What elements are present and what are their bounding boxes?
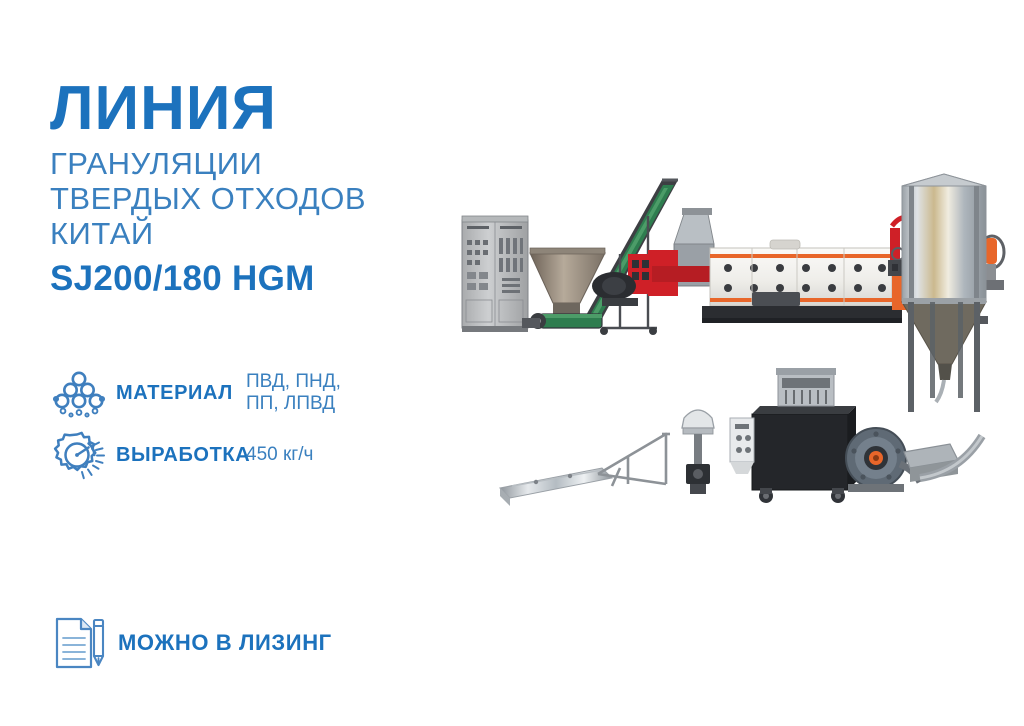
spec-value-output: 450 кг/ч xyxy=(246,444,313,466)
subtitle-line-1: ГРАНУЛЯЦИИ xyxy=(50,146,470,181)
equipment-photo-graphic xyxy=(452,168,1012,548)
spec-value-material: ПВД, ПНД, ПП, ЛПВД xyxy=(246,371,341,415)
storage-silo xyxy=(896,174,986,412)
granules-icon xyxy=(50,364,108,422)
spec-label-output: ВЫРАБОТКА xyxy=(108,444,246,467)
transfer-duct xyxy=(904,436,982,482)
water-cooling-trough xyxy=(500,468,612,506)
spec-list: МАТЕРИАЛ ПВД, ПНД, ПП, ЛПВД xyxy=(50,362,450,486)
downstream-equipment xyxy=(500,174,986,506)
control-cabinet xyxy=(462,216,528,332)
model-number: SJ200/180 HGM xyxy=(50,259,470,299)
spec-row-output: ВЫРАБОТКА 450 кг/ч xyxy=(50,424,450,486)
spec-label-material: МАТЕРИАЛ xyxy=(108,382,246,405)
promo-banner: ЛИНИЯ ГРАНУЛЯЦИИ ТВЕРДЫХ ОТХОДОВ КИТАЙ S… xyxy=(0,0,1024,726)
pelletizer-cabinet xyxy=(730,368,856,503)
subtitle-line-3: КИТАЙ xyxy=(50,216,470,251)
spec-value-material-line2: ПП, ЛПВД xyxy=(246,393,341,415)
subtitle-line-2: ТВЕРДЫХ ОТХОДОВ xyxy=(50,181,470,216)
degassing-barrel xyxy=(702,240,902,323)
equipment-photo xyxy=(452,168,1012,548)
leasing-label: МОЖНО В ЛИЗИНГ xyxy=(108,630,332,656)
headline-block: ЛИНИЯ ГРАНУЛЯЦИИ ТВЕРДЫХ ОТХОДОВ КИТАЙ S… xyxy=(50,78,470,299)
page-title: ЛИНИЯ xyxy=(50,78,470,140)
spec-value-material-line1: ПВД, ПНД, xyxy=(246,371,341,392)
spec-row-material: МАТЕРИАЛ ПВД, ПНД, ПП, ЛПВД xyxy=(50,362,450,424)
leasing-block: МОЖНО В ЛИЗИНГ xyxy=(50,612,332,674)
document-pen-icon xyxy=(50,612,108,674)
gauge-gear-icon xyxy=(50,426,108,484)
air-knife xyxy=(682,410,714,494)
